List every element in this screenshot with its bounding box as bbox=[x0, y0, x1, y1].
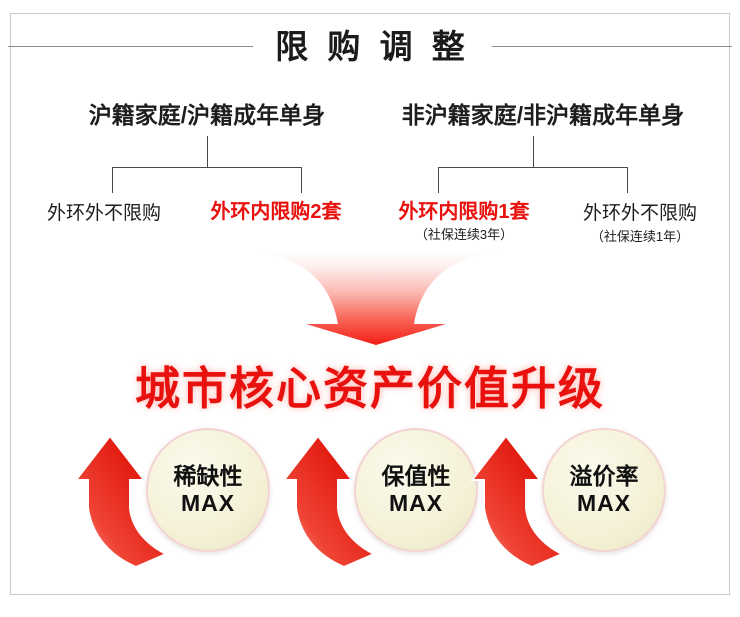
badge-max: MAX bbox=[389, 490, 443, 517]
badge-title: 稀缺性 bbox=[174, 463, 243, 490]
policy-leaf-text: 外环外不限购 bbox=[16, 202, 192, 226]
bracket-drop-left bbox=[438, 167, 439, 193]
badge-max: MAX bbox=[181, 490, 235, 517]
badge-title: 保值性 bbox=[382, 463, 451, 490]
bracket-connector-local bbox=[112, 136, 302, 194]
policy-leaf-nonlocal-inner: 外环内限购1套 （社保连续3年） bbox=[374, 200, 554, 244]
policy-leaf-note: （社保连续1年） bbox=[552, 227, 728, 246]
policy-leaf-nonlocal-outer: 外环外不限购 （社保连续1年） bbox=[552, 202, 728, 246]
funnel-down-arrow bbox=[248, 248, 504, 346]
policy-leaf-local-inner: 外环内限购2套 bbox=[186, 200, 366, 224]
bracket-stem bbox=[533, 136, 534, 168]
headline: 城市核心资产价值升级 bbox=[0, 352, 740, 417]
value-badge-preservation: 保值性 MAX bbox=[282, 424, 482, 569]
value-badge-scarcity: 稀缺性 MAX bbox=[74, 424, 274, 569]
bracket-drop-right bbox=[301, 167, 302, 193]
badge-label: 溢价率 MAX bbox=[542, 428, 666, 552]
policy-leaf-note: （社保连续3年） bbox=[374, 225, 554, 244]
category-header-nonlocal: 非沪籍家庭/非沪籍成年单身 bbox=[368, 96, 718, 130]
badge-title: 溢价率 bbox=[570, 463, 639, 490]
value-badge-premium: 溢价率 MAX bbox=[470, 424, 670, 569]
bracket-drop-right bbox=[627, 167, 628, 193]
page-title: 限 购 调 整 bbox=[275, 30, 470, 63]
title-rule-right bbox=[492, 46, 732, 47]
policy-leaf-text: 外环内限购2套 bbox=[186, 200, 366, 224]
funnel-shape bbox=[250, 250, 502, 345]
bracket-stem bbox=[207, 136, 208, 168]
policy-leaf-local-outer: 外环外不限购 bbox=[16, 202, 192, 226]
title-rule-left bbox=[8, 46, 253, 47]
policy-leaf-text: 外环内限购1套 bbox=[374, 200, 554, 224]
badge-label: 保值性 MAX bbox=[354, 428, 478, 552]
bracket-connector-nonlocal bbox=[438, 136, 628, 194]
bracket-crossbar bbox=[438, 167, 628, 168]
category-header-local: 沪籍家庭/沪籍成年单身 bbox=[42, 96, 372, 130]
bracket-crossbar bbox=[112, 167, 302, 168]
bracket-drop-left bbox=[112, 167, 113, 193]
infographic-poster: 限 购 调 整 沪籍家庭/沪籍成年单身 非沪籍家庭/非沪籍成年单身 外环外不限购… bbox=[0, 0, 740, 617]
badge-max: MAX bbox=[577, 490, 631, 517]
title-row: 限 购 调 整 bbox=[0, 22, 740, 70]
badge-label: 稀缺性 MAX bbox=[146, 428, 270, 552]
policy-leaf-text: 外环外不限购 bbox=[552, 202, 728, 226]
